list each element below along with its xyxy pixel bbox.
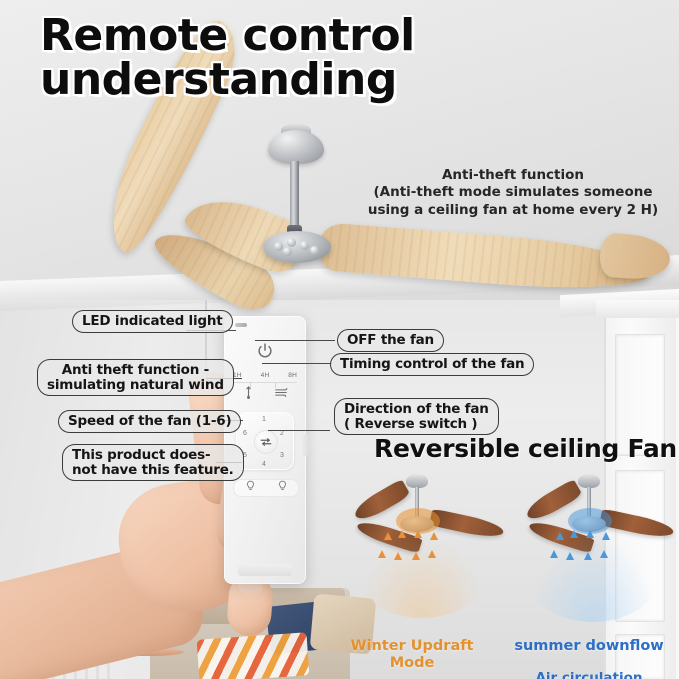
page-title: Remote control understanding: [40, 14, 679, 101]
fan-hub-detail: [272, 238, 322, 255]
summer-arrow-5: [550, 550, 558, 558]
natural-wind-icon[interactable]: [242, 385, 255, 405]
mini-fan-canopy-summer: [578, 474, 600, 488]
summer-mode-text: summer downflow Air circulation downdraf…: [498, 622, 679, 679]
winter-arrow-2: [398, 530, 406, 538]
summer-arrow-4: [602, 532, 610, 540]
winter-mode-heading: Winter Updraft Mode: [326, 638, 498, 672]
power-button[interactable]: [254, 340, 276, 362]
remote-side-clip: [300, 434, 309, 456]
speed-number-4[interactable]: 4: [262, 461, 266, 468]
summer-arrow-2: [570, 530, 578, 538]
bulb-bright-icon[interactable]: [278, 479, 287, 497]
bulb-dim-icon[interactable]: [246, 479, 255, 497]
timer-row[interactable]: 1H 4H 8H: [233, 368, 297, 383]
speed-number-6[interactable]: 6: [243, 430, 247, 437]
winter-arrow-6: [394, 552, 402, 560]
mode-icon-row[interactable]: [233, 386, 297, 404]
summer-arrow-8: [600, 550, 608, 558]
winter-arrow-5: [378, 550, 386, 558]
speed-number-2[interactable]: 2: [280, 430, 284, 437]
timer-4h-label[interactable]: 4H: [261, 372, 270, 379]
infographic-canvas: 1H 4H 8H 1 2 3 4 5: [0, 0, 679, 679]
winter-arrow-3: [414, 530, 422, 538]
reverse-direction-button[interactable]: [255, 431, 277, 453]
timer-8h-label[interactable]: 8H: [288, 372, 297, 379]
remote-battery-cover: [238, 564, 292, 576]
speed-number-1[interactable]: 1: [262, 416, 266, 423]
fan-canopy: [268, 130, 324, 164]
reversible-ceiling-fan-title: Reversible ceiling Fan: [374, 434, 677, 463]
callout-speed-of-the-fan[interactable]: Speed of the fan (1-6): [58, 410, 241, 433]
leader-off: [255, 340, 335, 341]
summer-mode-line2: Air circulation downdraft: [498, 671, 679, 679]
callout-led-indicated-light[interactable]: LED indicated light: [72, 310, 233, 333]
light-button-row[interactable]: [233, 479, 299, 497]
timer-divider: [233, 382, 297, 383]
fan-blade-right-tip: [598, 232, 672, 282]
fan-speed-icon[interactable]: [274, 386, 288, 404]
winter-airflow: [358, 534, 486, 618]
summer-airflow: [528, 534, 658, 622]
callout-timing-control[interactable]: Timing control of the fan: [330, 353, 534, 376]
winter-arrow-8: [428, 550, 436, 558]
summer-arrow-1: [556, 532, 564, 540]
fan-downrod: [290, 161, 299, 229]
anti-theft-note: Anti-theft function (Anti-theft mode sim…: [358, 167, 668, 219]
winter-arrow-7: [412, 552, 420, 560]
summer-arrow-6: [566, 552, 574, 560]
callout-anti-theft-function[interactable]: Anti theft function - simulating natural…: [37, 359, 234, 396]
summer-mode-heading: summer downflow: [498, 638, 679, 655]
callout-direction-of-the-fan[interactable]: Direction of the fan ( Reverse switch ): [334, 398, 499, 435]
leader-direction: [268, 430, 330, 431]
summer-arrow-7: [584, 552, 592, 560]
winter-arrow-1: [384, 532, 392, 540]
callout-off-the-fan[interactable]: OFF the fan: [337, 329, 444, 352]
mini-fan-canopy-winter: [406, 474, 428, 488]
leader-timing: [262, 363, 332, 364]
led-indicator: [235, 323, 247, 327]
winter-mode-text: Winter Updraft Mode Enhance upwardair ci…: [326, 622, 498, 679]
speed-number-3[interactable]: 3: [280, 452, 284, 459]
summer-arrow-3: [586, 530, 594, 538]
winter-arrow-4: [430, 532, 438, 540]
callout-no-feature[interactable]: This product does- not have this feature…: [62, 444, 244, 481]
